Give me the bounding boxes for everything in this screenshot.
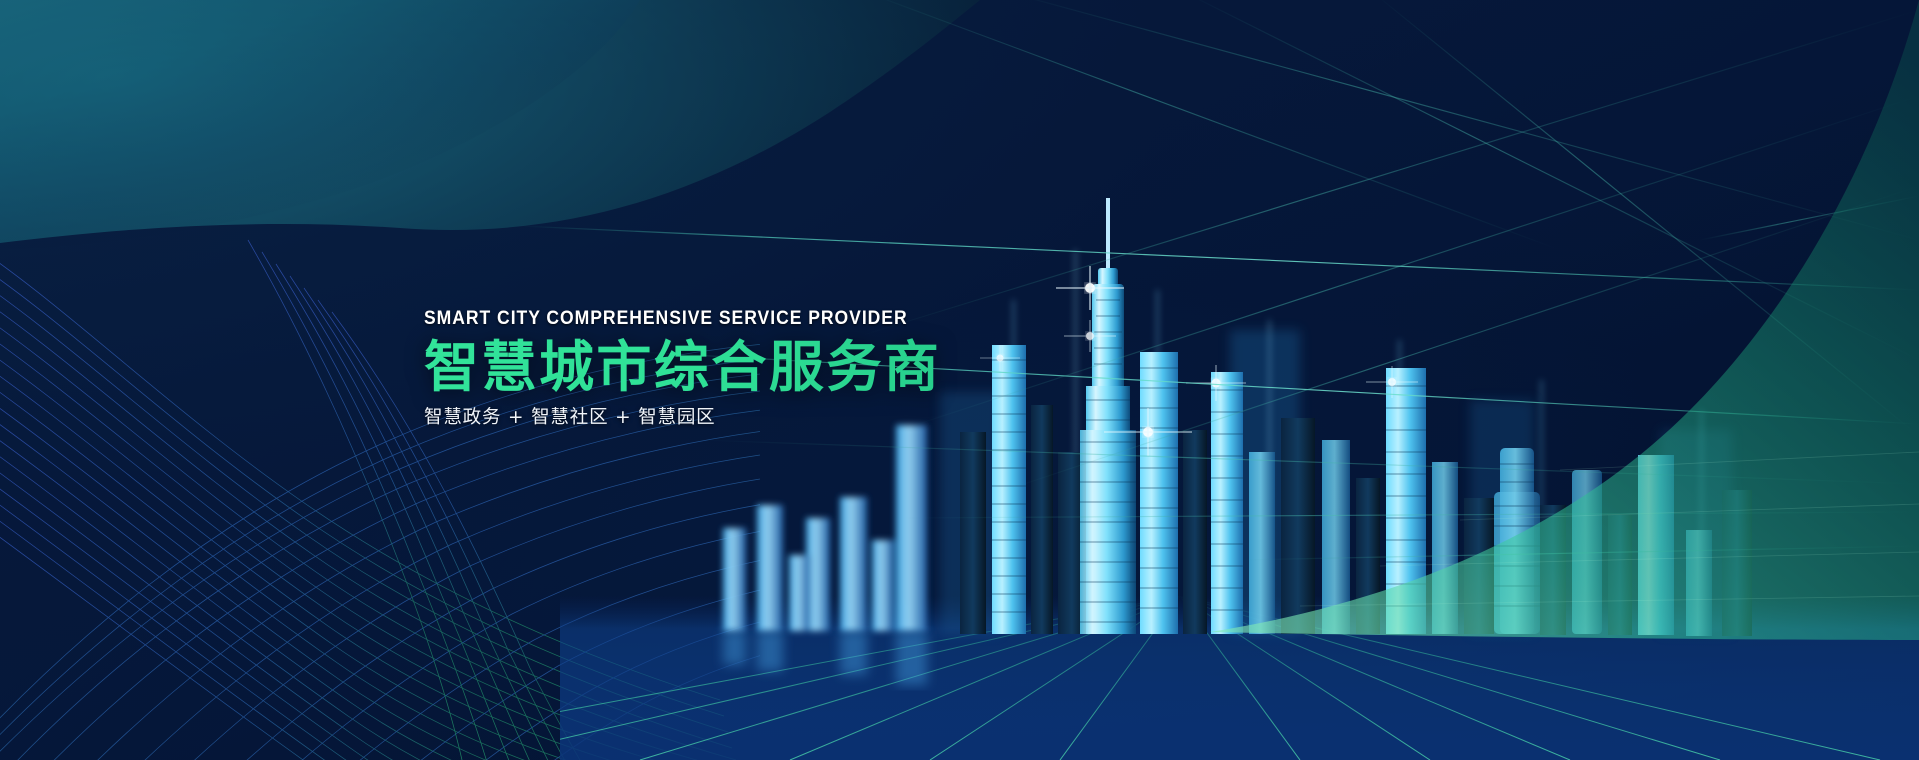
page-title: 智慧城市综合服务商 xyxy=(424,338,1184,396)
smart-city-banner: SMART CITY COMPREHENSIVE SERVICE PROVIDE… xyxy=(0,0,1919,760)
english-tagline: SMART CITY COMPREHENSIVE SERVICE PROVIDE… xyxy=(424,309,1108,329)
sub-headline: 智慧政务 + 智慧社区 + 智慧园区 xyxy=(424,409,1184,428)
headline-text-block: SMART CITY COMPREHENSIVE SERVICE PROVIDE… xyxy=(424,309,1184,427)
